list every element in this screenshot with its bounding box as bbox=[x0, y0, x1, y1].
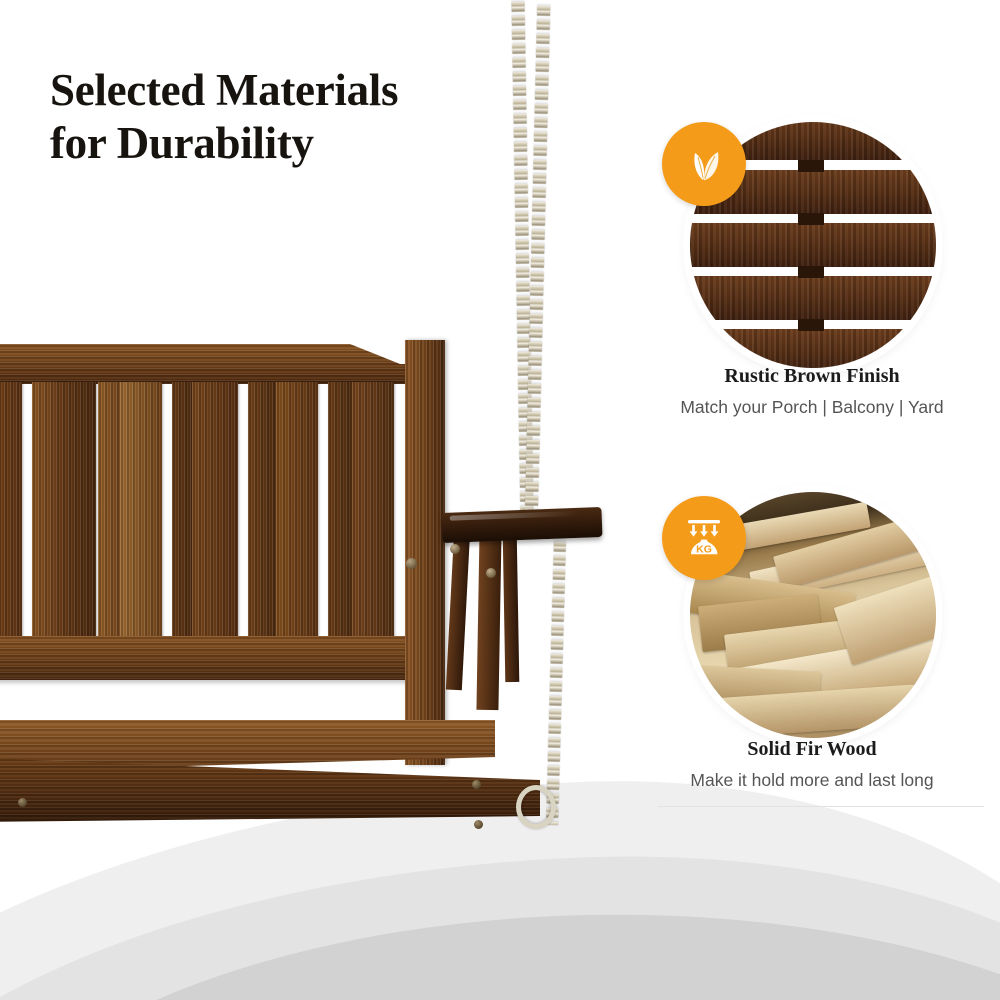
photo-slat-gap bbox=[798, 319, 824, 331]
swoosh-band-dark bbox=[0, 901, 1000, 1000]
backrest-slat bbox=[56, 382, 96, 644]
backrest-slat bbox=[120, 382, 162, 644]
backrest-slat bbox=[352, 382, 394, 644]
feature-subtitle-1: Match your Porch | Balcony | Yard bbox=[652, 397, 972, 418]
swing-side-post bbox=[405, 340, 445, 765]
backrest-slat bbox=[192, 382, 238, 644]
photo-wood-slat bbox=[690, 276, 936, 320]
swoosh-band-mid bbox=[0, 833, 1000, 1000]
backrest-slat bbox=[276, 382, 318, 644]
weight-capacity-icon-badge: KG bbox=[662, 496, 746, 580]
feature-subtitle-2: Make it hold more and last long bbox=[652, 770, 972, 791]
apron-screw-3 bbox=[474, 820, 483, 829]
armrest-support-2 bbox=[476, 530, 501, 710]
feature-title-1: Rustic Brown Finish bbox=[652, 365, 972, 388]
backrest-slat bbox=[0, 382, 22, 644]
page-title-line1: Selected Materials bbox=[50, 65, 398, 115]
armrest-support-1 bbox=[446, 530, 470, 691]
chain-attachment-ring bbox=[516, 785, 556, 829]
apron-screw-1 bbox=[18, 798, 27, 807]
swing-top-rail bbox=[0, 344, 435, 384]
product-feature-banner: Selected Materials for Durability bbox=[0, 0, 1000, 1000]
feature-caption-1: Rustic Brown Finish Match your Porch | B… bbox=[652, 365, 972, 418]
armrest-screw-1 bbox=[450, 544, 460, 554]
armrest-support-3 bbox=[503, 532, 520, 682]
backrest-slat bbox=[248, 382, 278, 644]
photo-slat-gap bbox=[798, 213, 824, 225]
apron-screw-2 bbox=[472, 780, 481, 789]
feature-caption-2: Solid Fir Wood Make it hold more and las… bbox=[652, 738, 972, 791]
weight-unit-label: KG bbox=[696, 543, 712, 555]
swing-backrest-slats bbox=[0, 382, 410, 644]
photo-slat-gap bbox=[798, 160, 824, 172]
caption-divider bbox=[658, 806, 984, 807]
armrest-screw-2 bbox=[486, 568, 496, 578]
photo-slat-gap bbox=[798, 266, 824, 278]
feature-title-2: Solid Fir Wood bbox=[652, 738, 972, 761]
photo-wood-slat bbox=[690, 329, 936, 368]
swing-front-apron bbox=[0, 758, 540, 822]
swing-armrest bbox=[441, 507, 602, 543]
weight-capacity-icon: KG bbox=[679, 513, 729, 563]
leaf-icon-badge bbox=[662, 122, 746, 206]
post-screw bbox=[406, 558, 417, 569]
photo-wood-slat bbox=[690, 223, 936, 267]
page-title-line2: for Durability bbox=[50, 117, 520, 170]
porch-swing-product-image bbox=[0, 330, 580, 850]
leaf-icon bbox=[680, 140, 728, 188]
swing-lower-rail bbox=[0, 636, 420, 680]
page-title: Selected Materials for Durability bbox=[50, 64, 520, 170]
